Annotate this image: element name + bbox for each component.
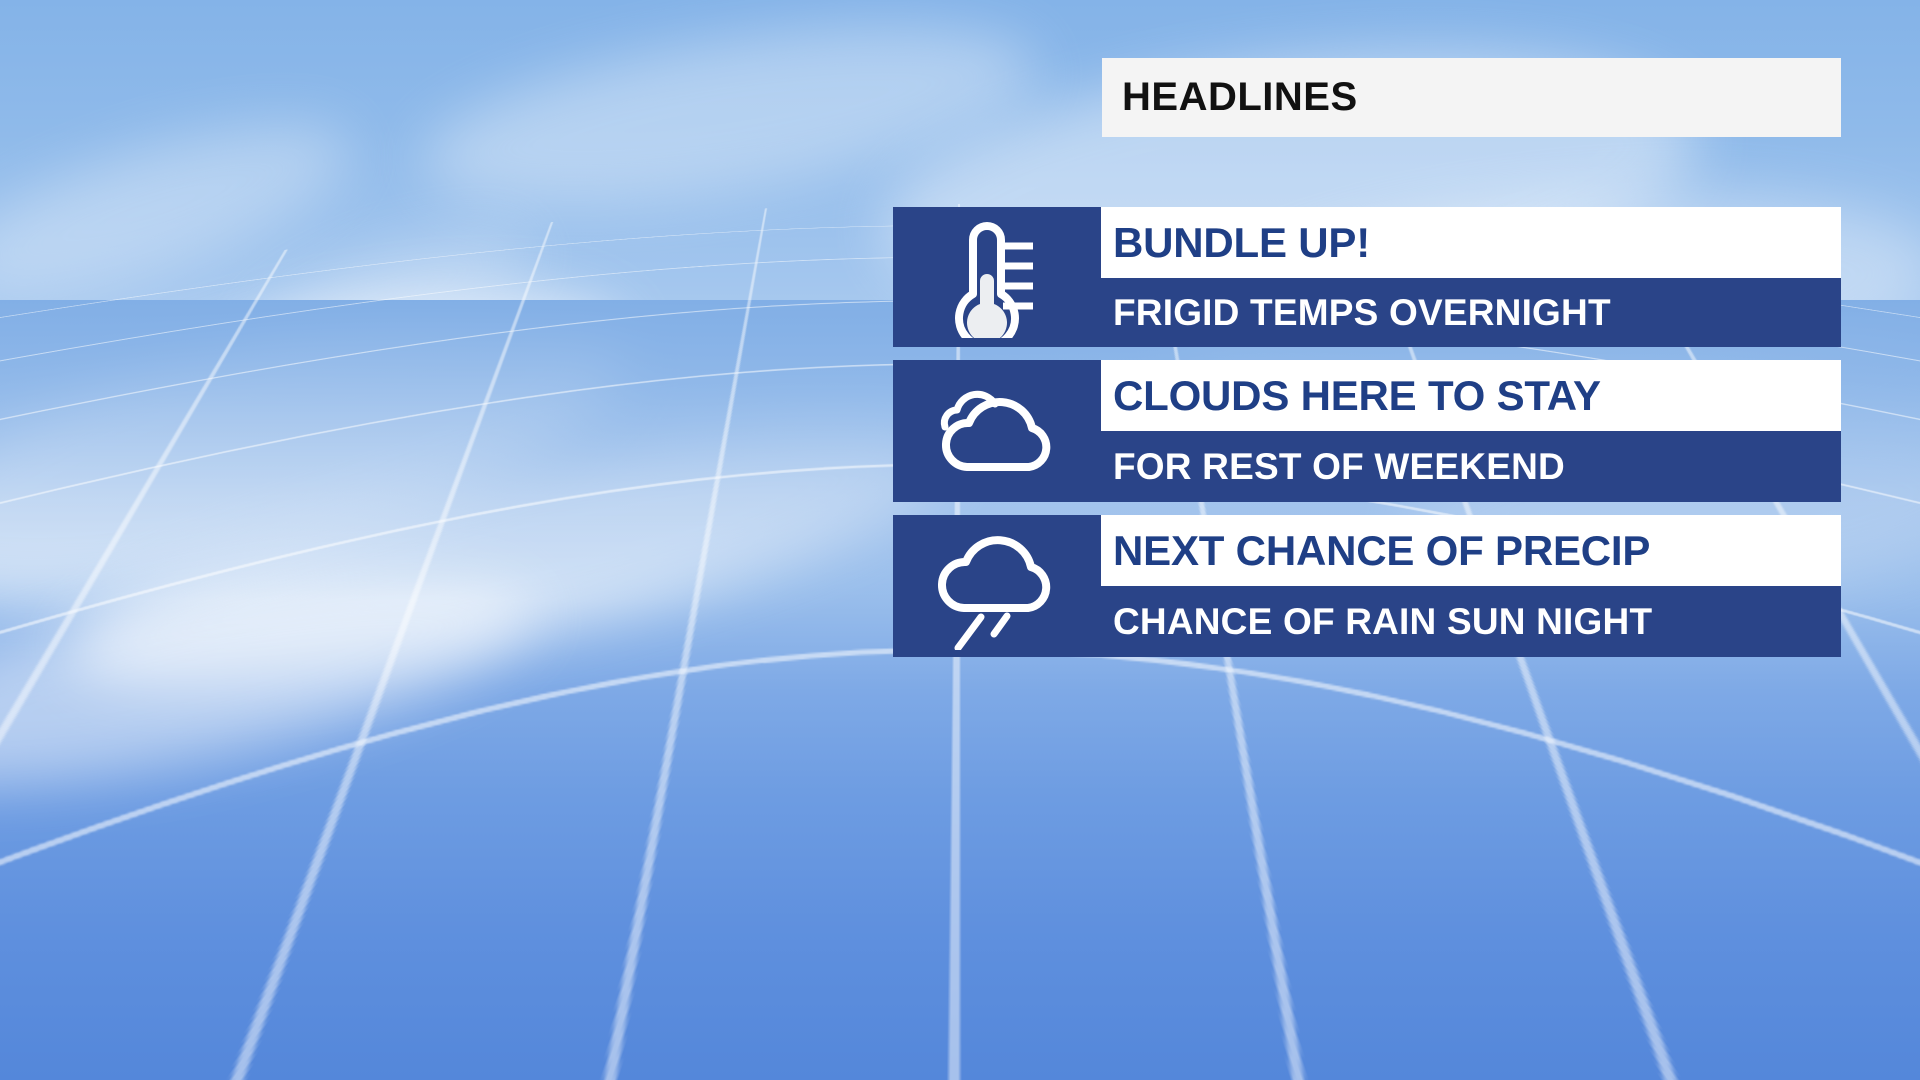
headline-icon-cell <box>893 515 1101 657</box>
headline-subtitle: FOR REST OF WEEKEND <box>1113 446 1565 488</box>
list-item[interactable]: BUNDLE UP! FRIGID TEMPS OVERNIGHT <box>893 207 1841 347</box>
headline-title: CLOUDS HERE TO STAY <box>1113 372 1601 420</box>
headline-title: BUNDLE UP! <box>1113 219 1370 267</box>
headline-subtitle-bar: CHANCE OF RAIN SUN NIGHT <box>1101 586 1841 657</box>
headlines-header-bar: HEADLINES <box>1102 58 1841 137</box>
headline-text-cell: CLOUDS HERE TO STAY FOR REST OF WEEKEND <box>1101 360 1841 502</box>
rain-cloud-icon <box>934 522 1060 650</box>
headline-subtitle-bar: FOR REST OF WEEKEND <box>1101 431 1841 502</box>
headline-subtitle-bar: FRIGID TEMPS OVERNIGHT <box>1101 278 1841 347</box>
headline-icon-cell <box>893 360 1101 502</box>
list-item[interactable]: NEXT CHANCE OF PRECIP CHANCE OF RAIN SUN… <box>893 515 1841 657</box>
headline-subtitle: CHANCE OF RAIN SUN NIGHT <box>1113 601 1652 643</box>
headline-icon-cell <box>893 207 1101 347</box>
headline-text-cell: NEXT CHANCE OF PRECIP CHANCE OF RAIN SUN… <box>1101 515 1841 657</box>
page-title: HEADLINES <box>1102 75 1358 120</box>
thermometer-icon <box>943 216 1051 338</box>
headline-title-bar: NEXT CHANCE OF PRECIP <box>1101 515 1841 586</box>
headlines-overlay: HEADLINES <box>0 0 1920 1080</box>
headline-text-cell: BUNDLE UP! FRIGID TEMPS OVERNIGHT <box>1101 207 1841 347</box>
cloudy-icon <box>931 379 1063 483</box>
headlines-list: BUNDLE UP! FRIGID TEMPS OVERNIGHT CLOU <box>893 207 1841 657</box>
headline-title: NEXT CHANCE OF PRECIP <box>1113 527 1650 575</box>
headline-title-bar: CLOUDS HERE TO STAY <box>1101 360 1841 431</box>
list-item[interactable]: CLOUDS HERE TO STAY FOR REST OF WEEKEND <box>893 360 1841 502</box>
headline-title-bar: BUNDLE UP! <box>1101 207 1841 278</box>
headline-subtitle: FRIGID TEMPS OVERNIGHT <box>1113 292 1611 334</box>
